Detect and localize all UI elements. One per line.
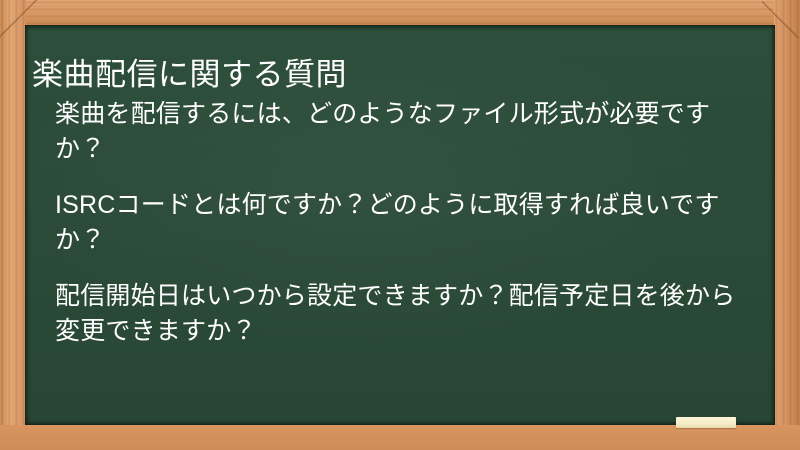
question-item: ISRCコードとは何ですか？どのように取得すれば良いですか？ — [55, 188, 745, 257]
question-item: 配信開始日はいつから設定できますか？配信予定日を後から変更できますか？ — [55, 279, 745, 348]
chalkboard-slide: 楽曲配信に関する質問 楽曲を配信するには、どのようなファイル形式が必要ですか？ … — [0, 0, 800, 450]
chalk-stick-icon — [676, 417, 736, 428]
question-list: 楽曲を配信するには、どのようなファイル形式が必要ですか？ ISRCコードとは何で… — [55, 97, 745, 370]
slide-title: 楽曲配信に関する質問 — [32, 56, 752, 95]
frame-right-rail — [774, 0, 800, 450]
chalkboard-surface: 楽曲配信に関する質問 楽曲を配信するには、どのようなファイル形式が必要ですか？ … — [25, 25, 775, 425]
frame-left-rail — [0, 0, 26, 450]
frame-top-rail — [0, 0, 800, 26]
question-item: 楽曲を配信するには、どのようなファイル形式が必要ですか？ — [55, 97, 745, 166]
frame-bottom-ledge — [0, 425, 800, 450]
